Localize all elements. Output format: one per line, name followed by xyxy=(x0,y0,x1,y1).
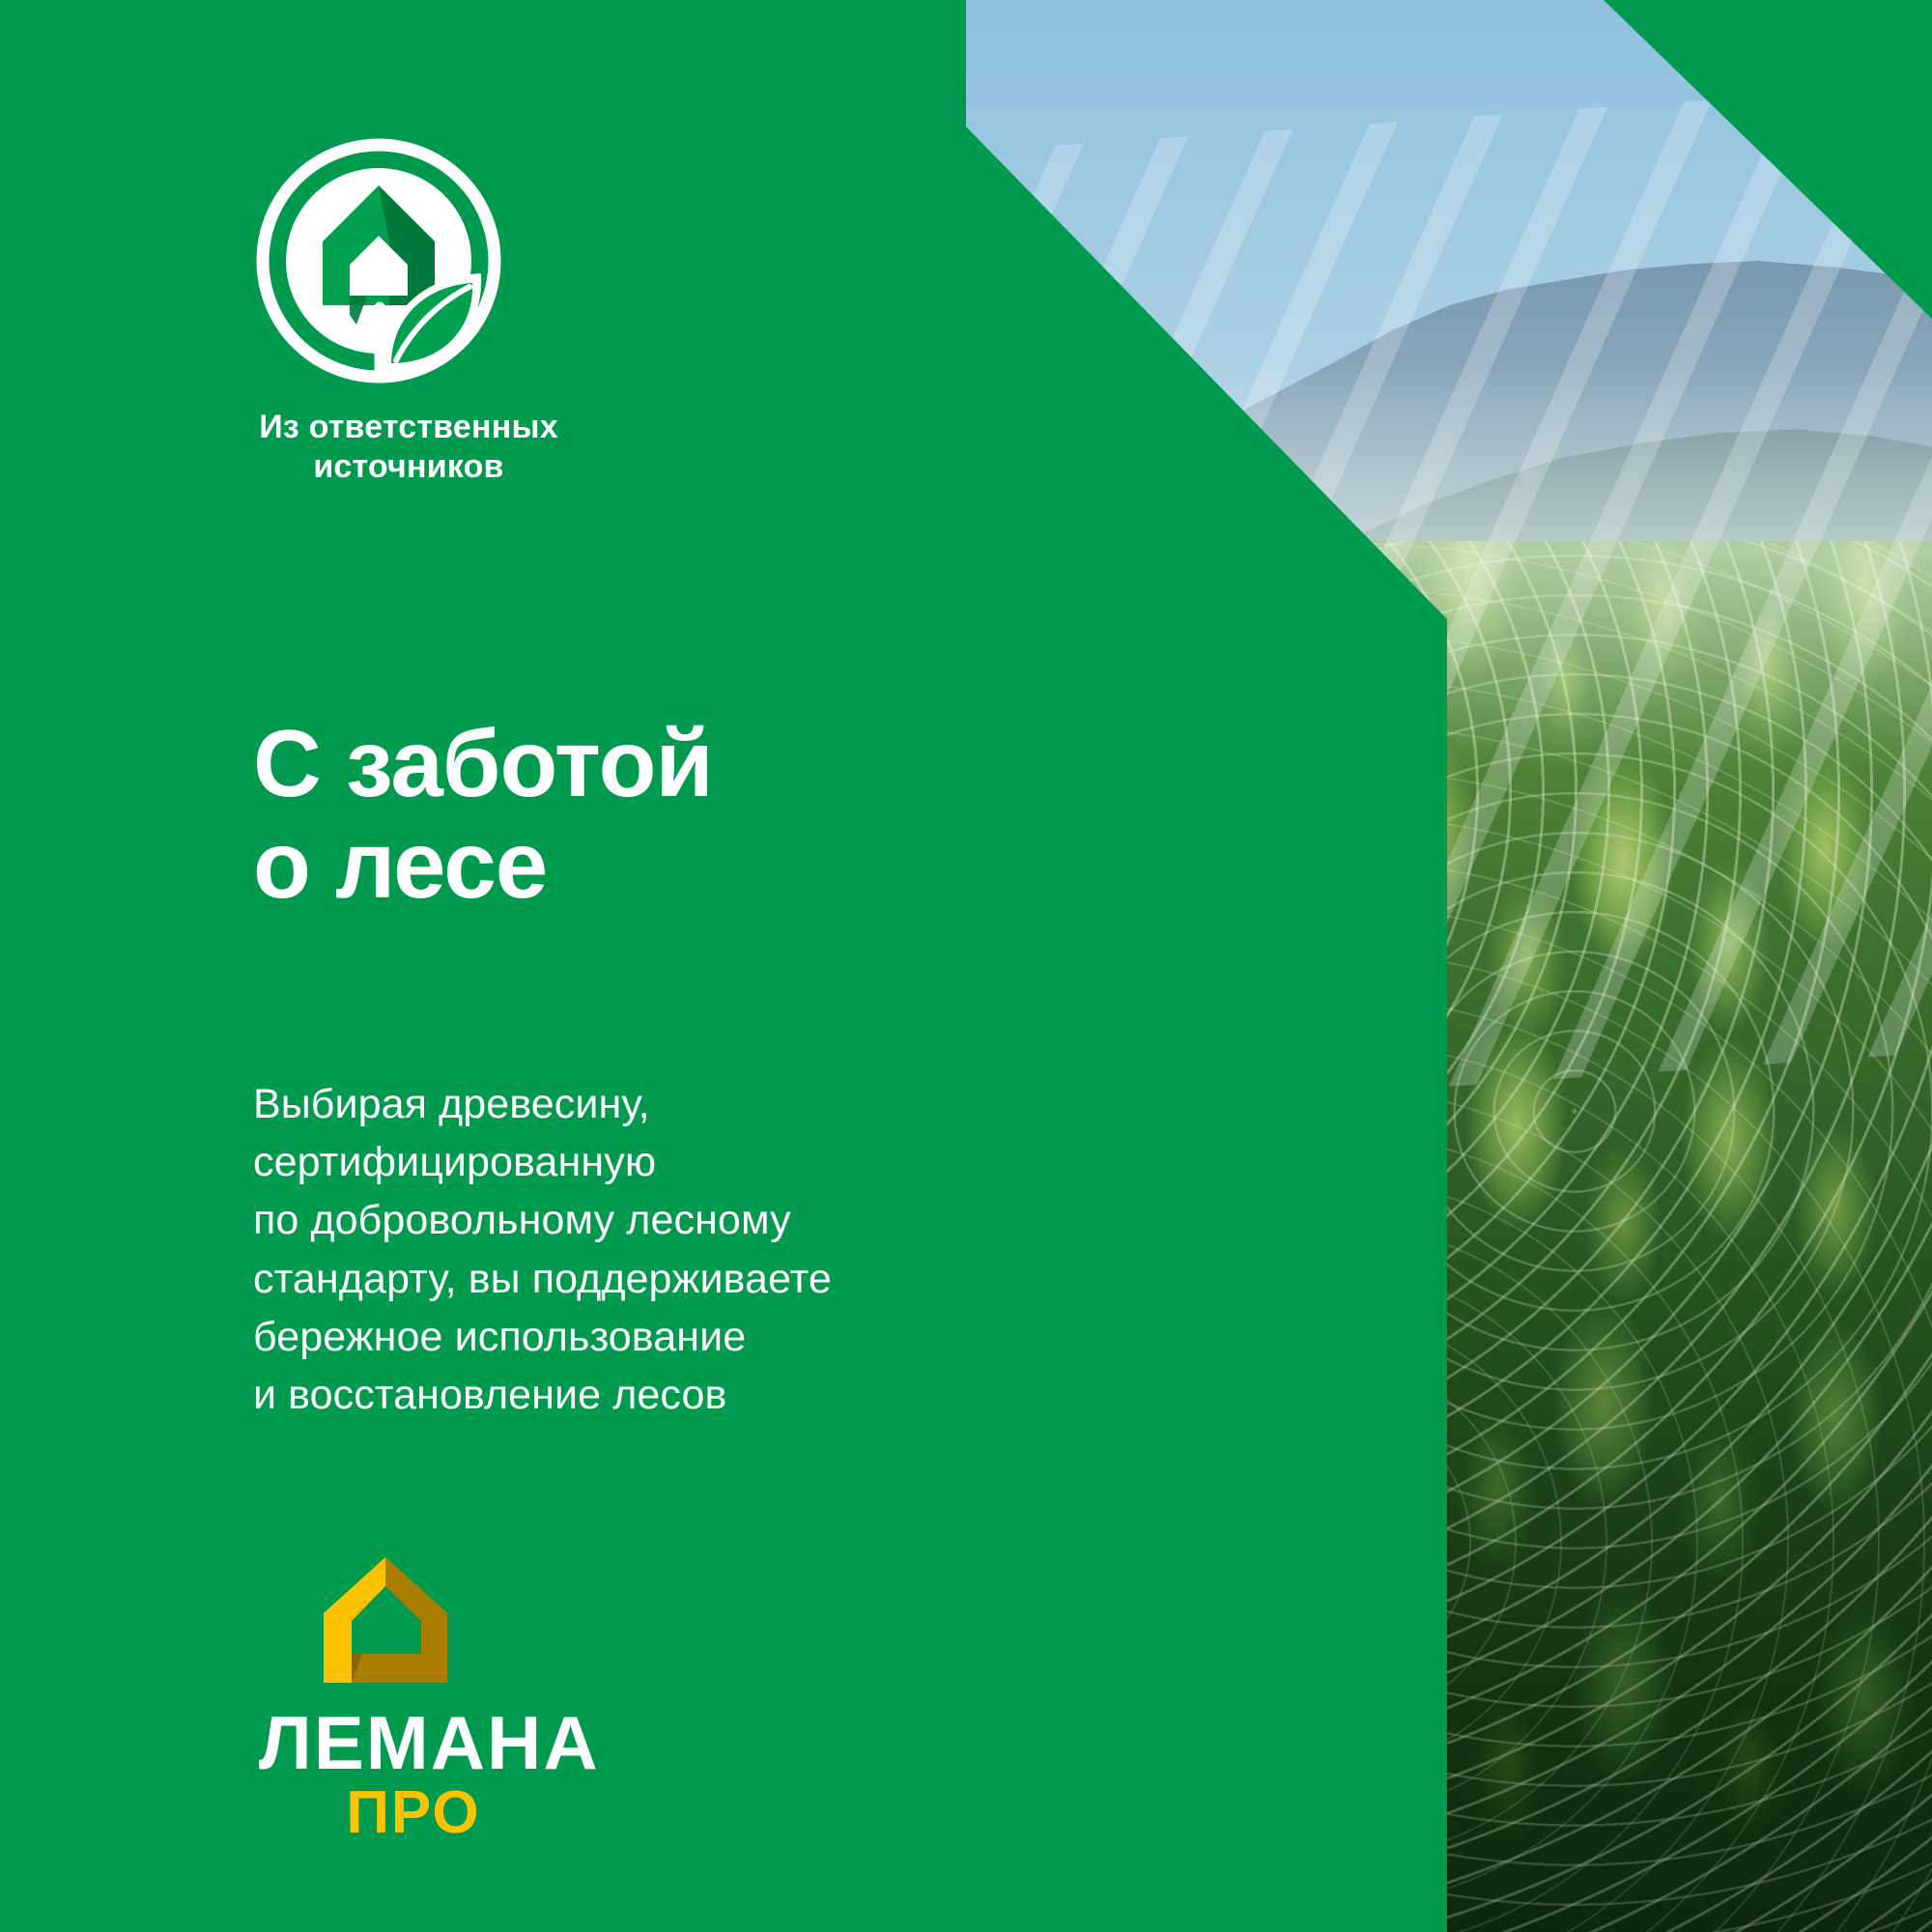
certification-caption: Из ответственных источников xyxy=(253,408,564,488)
brand-suffix: ПРО xyxy=(259,1783,568,1843)
brand-name: ЛЕМАНА xyxy=(259,1706,568,1779)
poster: Из ответственных источников С заботой о … xyxy=(0,0,1932,1932)
house-leaf-circle-icon xyxy=(253,135,504,386)
page-title: С заботой о лесе xyxy=(253,713,713,918)
brand-logo: ЛЕМАНА ПРО xyxy=(259,1553,607,1843)
body-copy: Выбирая древесину, сертифицированную по … xyxy=(253,1075,832,1424)
lemana-house-icon xyxy=(317,1553,454,1689)
certification-badge: Из ответственных источников xyxy=(253,135,659,488)
